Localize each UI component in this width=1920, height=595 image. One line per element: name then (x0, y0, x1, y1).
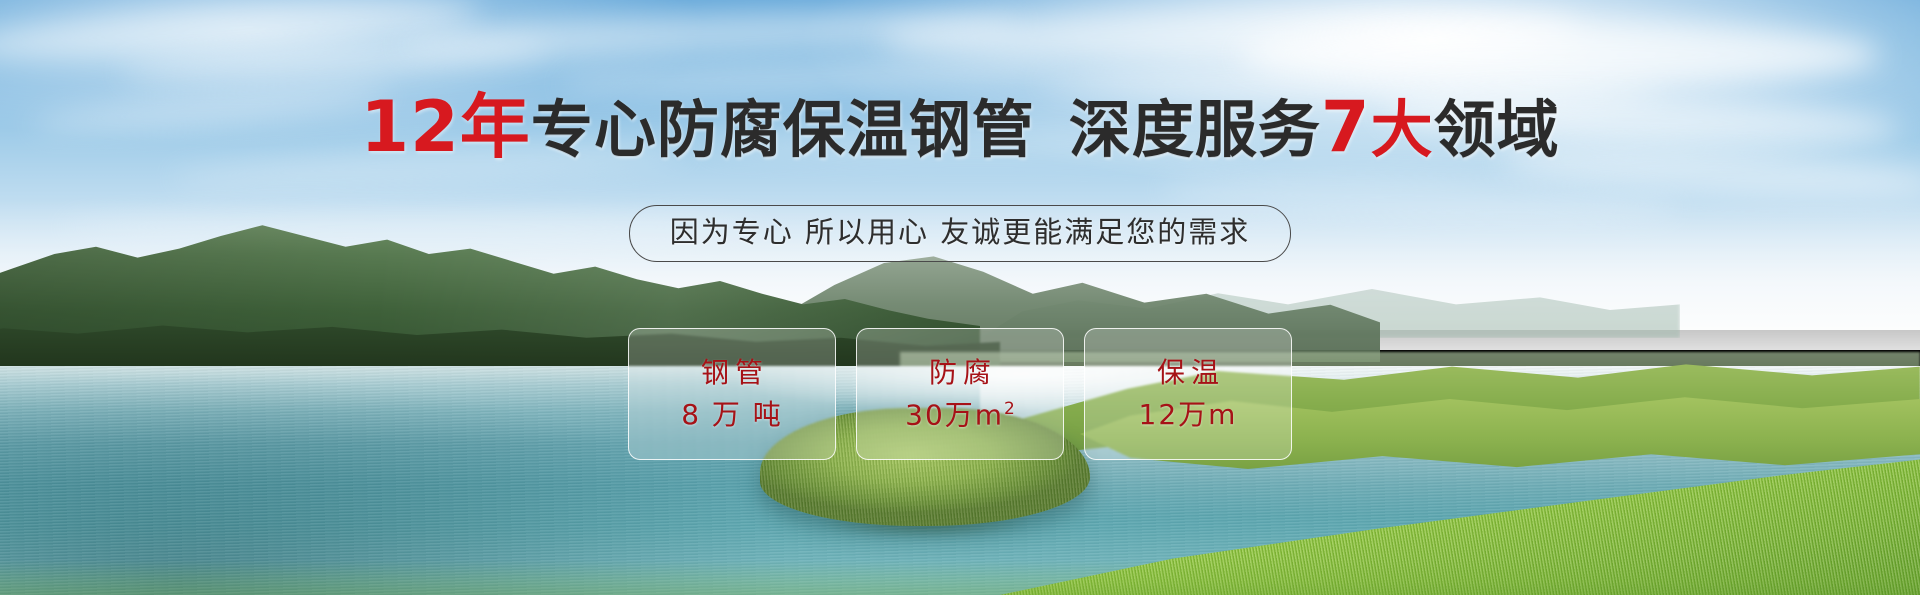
hero-banner: 12年专心防腐保温钢管深度服务7大领域 因为专心 所以用心 友诚更能满足您的需求… (0, 0, 1920, 595)
banner-content: 12年专心防腐保温钢管深度服务7大领域 因为专心 所以用心 友诚更能满足您的需求… (0, 0, 1920, 595)
stat-card-insulation[interactable]: 保温 12万m (1084, 328, 1292, 460)
stat-card-title: 防腐 (923, 359, 997, 387)
stat-card-value-text: 12万m (1139, 398, 1238, 431)
stat-card-title: 保温 (1151, 359, 1225, 387)
banner-headline: 12年专心防腐保温钢管深度服务7大领域 (0, 92, 1920, 162)
banner-subtitle-wrap: 因为专心 所以用心 友诚更能满足您的需求 (0, 205, 1920, 262)
stat-card-list: 钢管 8 万 吨 防腐 30万m2 保温 12万m (0, 328, 1920, 460)
headline-main-text: 专心防腐保温钢管 (531, 93, 1035, 166)
headline-fields-unit: 大 (1371, 93, 1434, 166)
stat-card-value-text: 30万m (905, 398, 1004, 431)
headline-fields-tail: 领域 (1434, 93, 1560, 166)
stat-card-value: 8 万 吨 (681, 401, 783, 429)
headline-service-text: 深度服务 (1069, 93, 1321, 166)
stat-card-steel-pipe[interactable]: 钢管 8 万 吨 (628, 328, 836, 460)
stat-card-value: 12万m (1139, 401, 1238, 429)
stat-card-value-superscript: 2 (1004, 399, 1015, 419)
stat-card-anticorrosion[interactable]: 防腐 30万m2 (856, 328, 1064, 460)
stat-card-value: 30万m2 (905, 401, 1015, 429)
stat-card-value-text: 8 万 吨 (681, 398, 783, 431)
headline-years: 12年 (360, 86, 530, 168)
banner-subtitle-pill: 因为专心 所以用心 友诚更能满足您的需求 (629, 205, 1291, 262)
headline-fields-number: 7 (1321, 86, 1371, 168)
stat-card-title: 钢管 (695, 359, 769, 387)
